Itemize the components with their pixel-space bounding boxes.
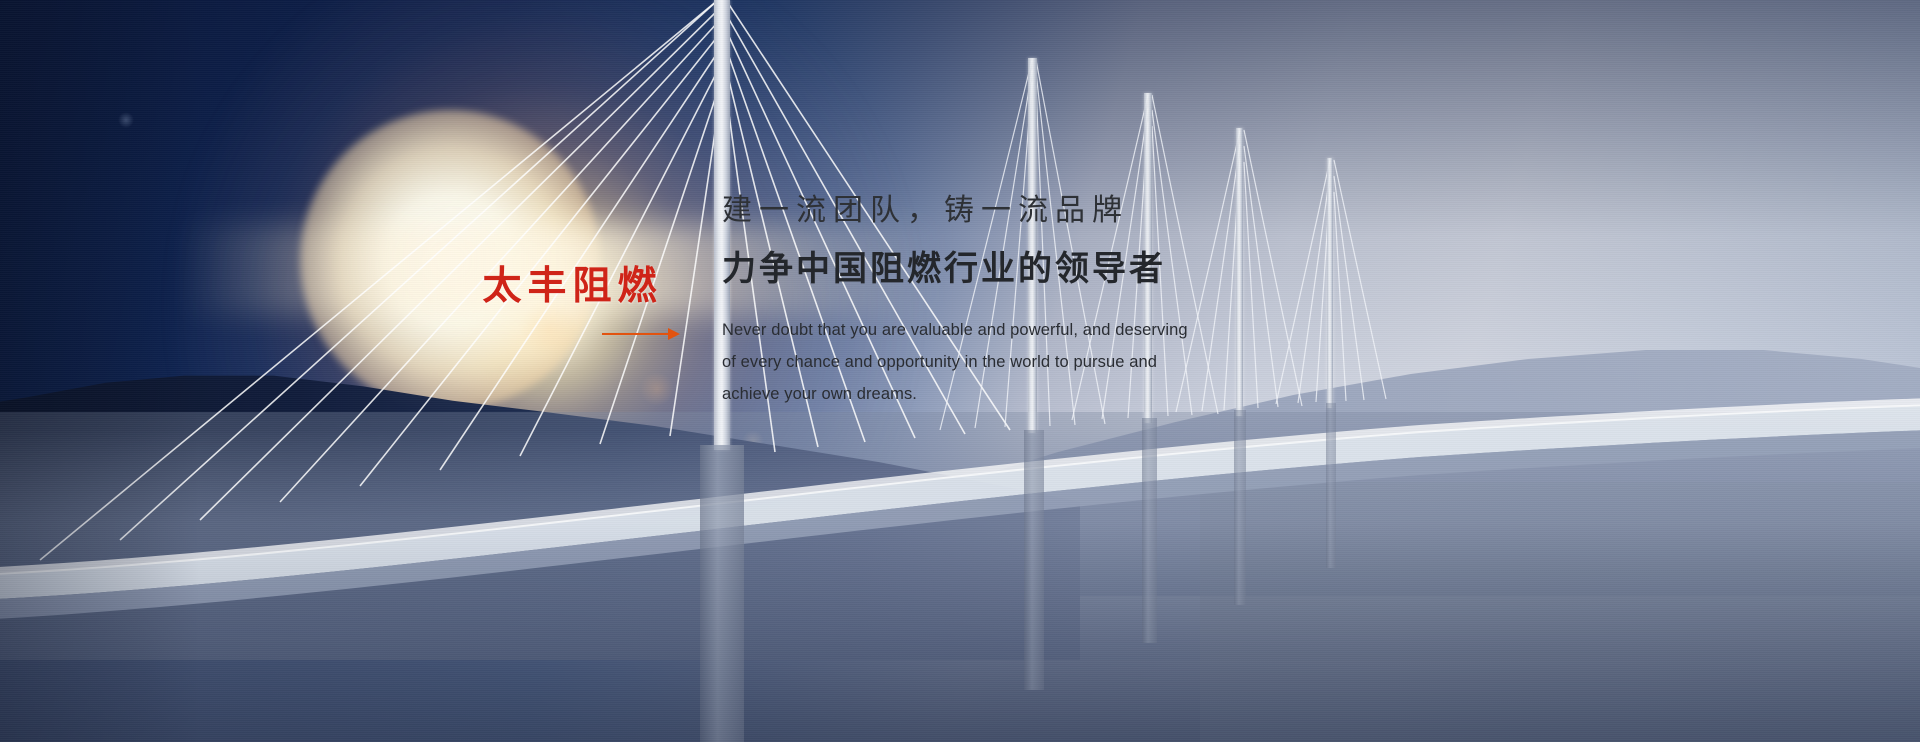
hero-banner: 太丰阻燃 建一流团队，铸一流品牌 力争中国阻燃行业的领导者 Never doub…: [0, 0, 1920, 742]
banner-content: 太丰阻燃 建一流团队，铸一流品牌 力争中国阻燃行业的领导者 Never doub…: [0, 0, 1920, 742]
subtext-line: Never doubt that you are valuable and po…: [722, 314, 1342, 346]
brand-logo-text: 太丰阻燃: [465, 267, 680, 306]
brand-logo[interactable]: 太丰阻燃: [465, 267, 680, 340]
headline-primary: 建一流团队，铸一流品牌: [722, 192, 1342, 230]
arrow-shaft: [602, 333, 672, 335]
arrow-right-icon: [602, 328, 680, 340]
subtext-line: achieve your own dreams.: [722, 378, 1342, 410]
subtext-line: of every chance and opportunity in the w…: [722, 346, 1342, 378]
headline-secondary: 力争中国阻燃行业的领导者: [722, 248, 1342, 291]
arrow-head: [668, 328, 680, 340]
banner-text-block: 建一流团队，铸一流品牌 力争中国阻燃行业的领导者 Never doubt tha…: [722, 192, 1342, 411]
banner-subtext: Never doubt that you are valuable and po…: [722, 314, 1342, 411]
